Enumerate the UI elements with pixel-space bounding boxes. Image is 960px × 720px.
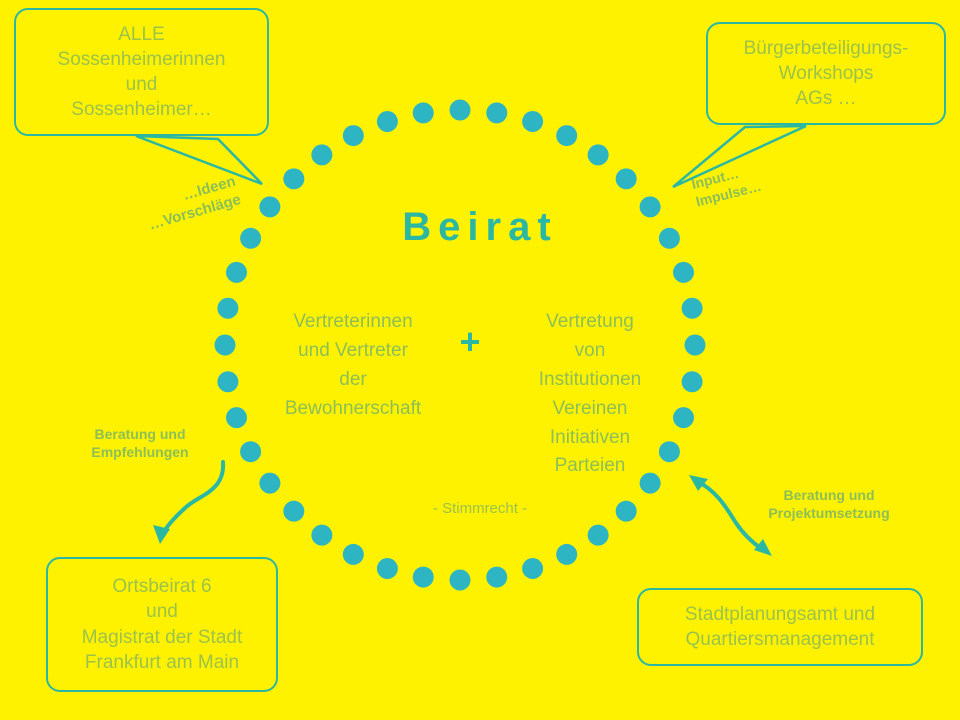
- ring-dot: [413, 567, 434, 588]
- ring-dot: [283, 501, 304, 522]
- ring-dot: [217, 371, 238, 392]
- ring-dot: [215, 335, 236, 356]
- ring-dot: [685, 335, 706, 356]
- callout-tail-alle: [136, 136, 262, 184]
- ring-dot: [343, 125, 364, 146]
- ring-dot: [522, 558, 543, 579]
- ring-dot: [217, 298, 238, 319]
- ring-dot: [556, 544, 577, 565]
- ring-dot: [522, 111, 543, 132]
- annotation-input-impulse: Input… Impulse…: [690, 150, 805, 211]
- ring-dot: [556, 125, 577, 146]
- ring-dot: [240, 441, 261, 462]
- ring-dot: [226, 262, 247, 283]
- callout-box-buergerbeteiligung-text: Bürgerbeteiligungs- Workshops AGs …: [708, 36, 944, 111]
- ring-dot: [450, 100, 471, 121]
- ring-dot: [486, 567, 507, 588]
- ring-dot: [259, 473, 280, 494]
- ring-dot: [682, 371, 703, 392]
- center-column-right-text: Vertretung von Institutionen Vereinen In…: [506, 308, 674, 481]
- plus-icon: +: [440, 324, 500, 360]
- callout-box-alle-text: ALLE Sossenheimerinnen und Sossenheimer…: [16, 22, 267, 122]
- ring-dot: [413, 102, 434, 123]
- center-column-left-text: Vertreterinnen und Vertreter der Bewohne…: [268, 308, 438, 424]
- ring-dot: [377, 558, 398, 579]
- ring-dot: [588, 525, 609, 546]
- annotation-beratung-projektumsetzung: Beratung und Projektumsetzung: [744, 487, 914, 522]
- ring-dot: [377, 111, 398, 132]
- ring-dot: [450, 570, 471, 591]
- callout-box-stadtplanungsamt[interactable]: Stadtplanungsamt und Quartiersmanagement: [637, 588, 923, 666]
- annotation-beratung-empfehlungen: Beratung und Empfehlungen: [72, 426, 208, 461]
- callout-box-stadtplanungsamt-text: Stadtplanungsamt und Quartiersmanagement: [639, 602, 921, 652]
- ring-dot: [588, 144, 609, 165]
- ring-dot: [283, 168, 304, 189]
- ring-dot: [311, 525, 332, 546]
- callout-box-alle-sossenheimer[interactable]: ALLE Sossenheimerinnen und Sossenheimer…: [14, 8, 269, 136]
- center-footnote-stimmrecht: - Stimmrecht -: [330, 500, 630, 517]
- ring-dot: [486, 102, 507, 123]
- ring-dot: [343, 544, 364, 565]
- ring-dot: [616, 168, 637, 189]
- arrow-beratung-empfehlungen: [153, 462, 223, 544]
- callout-box-buergerbeteiligung[interactable]: Bürgerbeteiligungs- Workshops AGs …: [706, 22, 946, 125]
- ring-dot: [673, 407, 694, 428]
- callout-box-ortsbeirat[interactable]: Ortsbeirat 6 und Magistrat der Stadt Fra…: [46, 557, 278, 692]
- ring-dot: [682, 298, 703, 319]
- callout-box-ortsbeirat-text: Ortsbeirat 6 und Magistrat der Stadt Fra…: [48, 574, 276, 674]
- ring-dot: [226, 407, 247, 428]
- ring-dot: [311, 144, 332, 165]
- ring-dot: [673, 262, 694, 283]
- diagram-canvas: ALLE Sossenheimerinnen und Sossenheimer……: [0, 0, 960, 720]
